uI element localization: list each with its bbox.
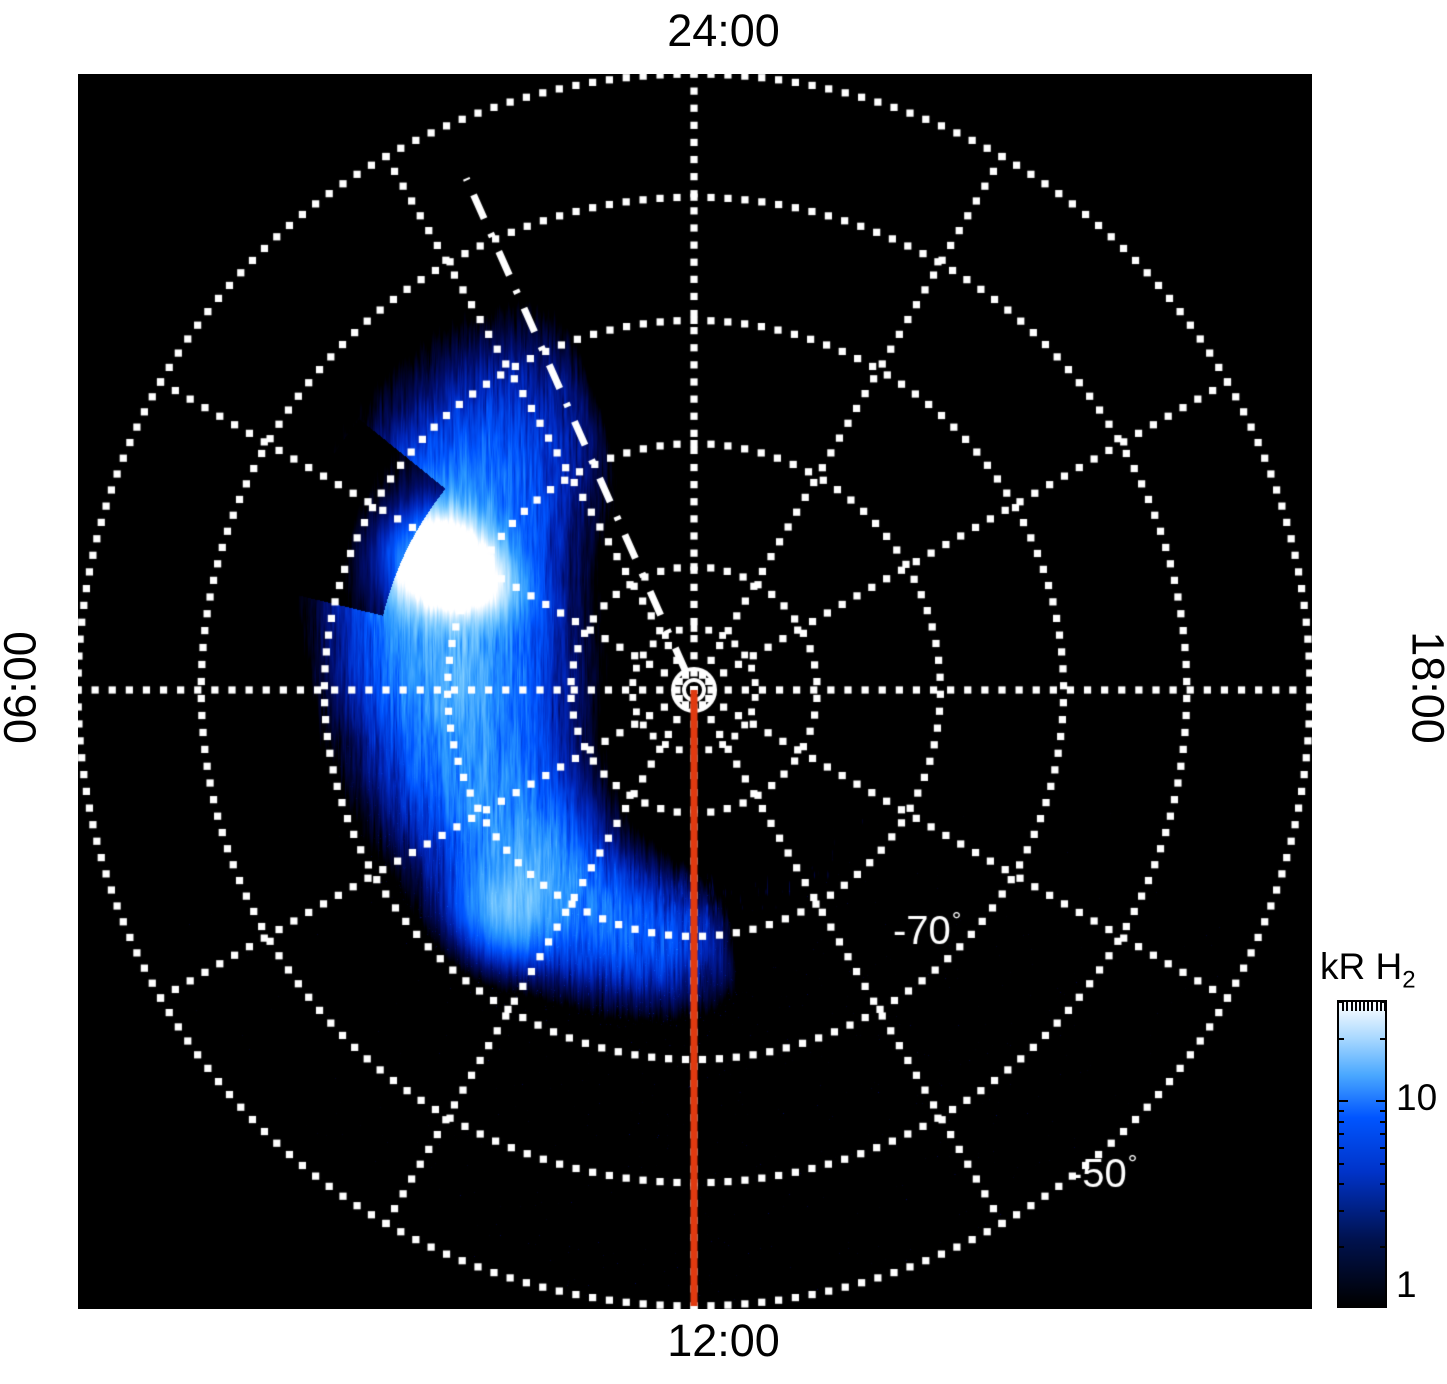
colorbar-gradient [1339, 1002, 1385, 1306]
auroral-image-canvas [78, 74, 1312, 1309]
colorbar-tick-4-right [1380, 1183, 1385, 1185]
colorbar-tick-7-left [1339, 1133, 1344, 1135]
figure-root: 24:00 12:00 06:00 18:00 kR H2 10 1 [0, 0, 1447, 1384]
colorbar-tick-6-right [1380, 1147, 1385, 1149]
colorbar-top-tick [1355, 1002, 1357, 1011]
colorbar-tick-2-right [1380, 1246, 1385, 1248]
colorbar-box [1337, 1000, 1387, 1308]
colorbar-top-tick [1376, 1002, 1378, 1011]
colorbar-tick-9-right [1380, 1110, 1385, 1112]
colorbar-title-subscript: 2 [1402, 966, 1415, 993]
colorbar-tick-20-left [1339, 1038, 1344, 1040]
colorbar: kR H2 10 1 [1320, 948, 1447, 1320]
colorbar-tick-3-right [1380, 1210, 1385, 1212]
mlt-label-1200: 12:00 [0, 1318, 1447, 1363]
colorbar-tick-10-right [1376, 1100, 1385, 1102]
colorbar-top-tick [1384, 1002, 1386, 1011]
colorbar-tick-20-right [1380, 1038, 1385, 1040]
colorbar-top-tick [1363, 1002, 1365, 1011]
colorbar-tick-6-left [1339, 1147, 1344, 1149]
colorbar-top-tick [1342, 1002, 1344, 1011]
colorbar-tick-8-left [1339, 1121, 1344, 1123]
colorbar-top-tick [1380, 1002, 1382, 1011]
colorbar-tick-10-left [1339, 1100, 1348, 1102]
colorbar-title-main: kR H [1320, 946, 1402, 987]
colorbar-tick-5-right [1380, 1163, 1385, 1165]
colorbar-top-tick [1371, 1002, 1373, 1011]
colorbar-tick-label-10: 10 [1396, 1079, 1437, 1116]
colorbar-tick-9-left [1339, 1110, 1344, 1112]
colorbar-tick-8-right [1380, 1121, 1385, 1123]
colorbar-tick-label-1: 1 [1396, 1266, 1417, 1303]
colorbar-top-tick [1359, 1002, 1361, 1011]
colorbar-tick-4-left [1339, 1183, 1344, 1185]
mlt-label-1800: 18:00 [1406, 588, 1447, 788]
colorbar-tick-3-left [1339, 1210, 1344, 1212]
colorbar-title: kR H2 [1320, 948, 1416, 985]
mlt-label-0600: 06:00 [0, 588, 43, 788]
colorbar-tick-7-right [1380, 1133, 1385, 1135]
colorbar-top-tick [1367, 1002, 1369, 1011]
mlt-label-2400: 24:00 [0, 8, 1447, 53]
colorbar-top-tick [1346, 1002, 1348, 1011]
polar-plot-panel [78, 74, 1312, 1309]
colorbar-tick-2-left [1339, 1246, 1344, 1248]
colorbar-top-tick [1351, 1002, 1353, 1011]
colorbar-tick-5-left [1339, 1163, 1344, 1165]
